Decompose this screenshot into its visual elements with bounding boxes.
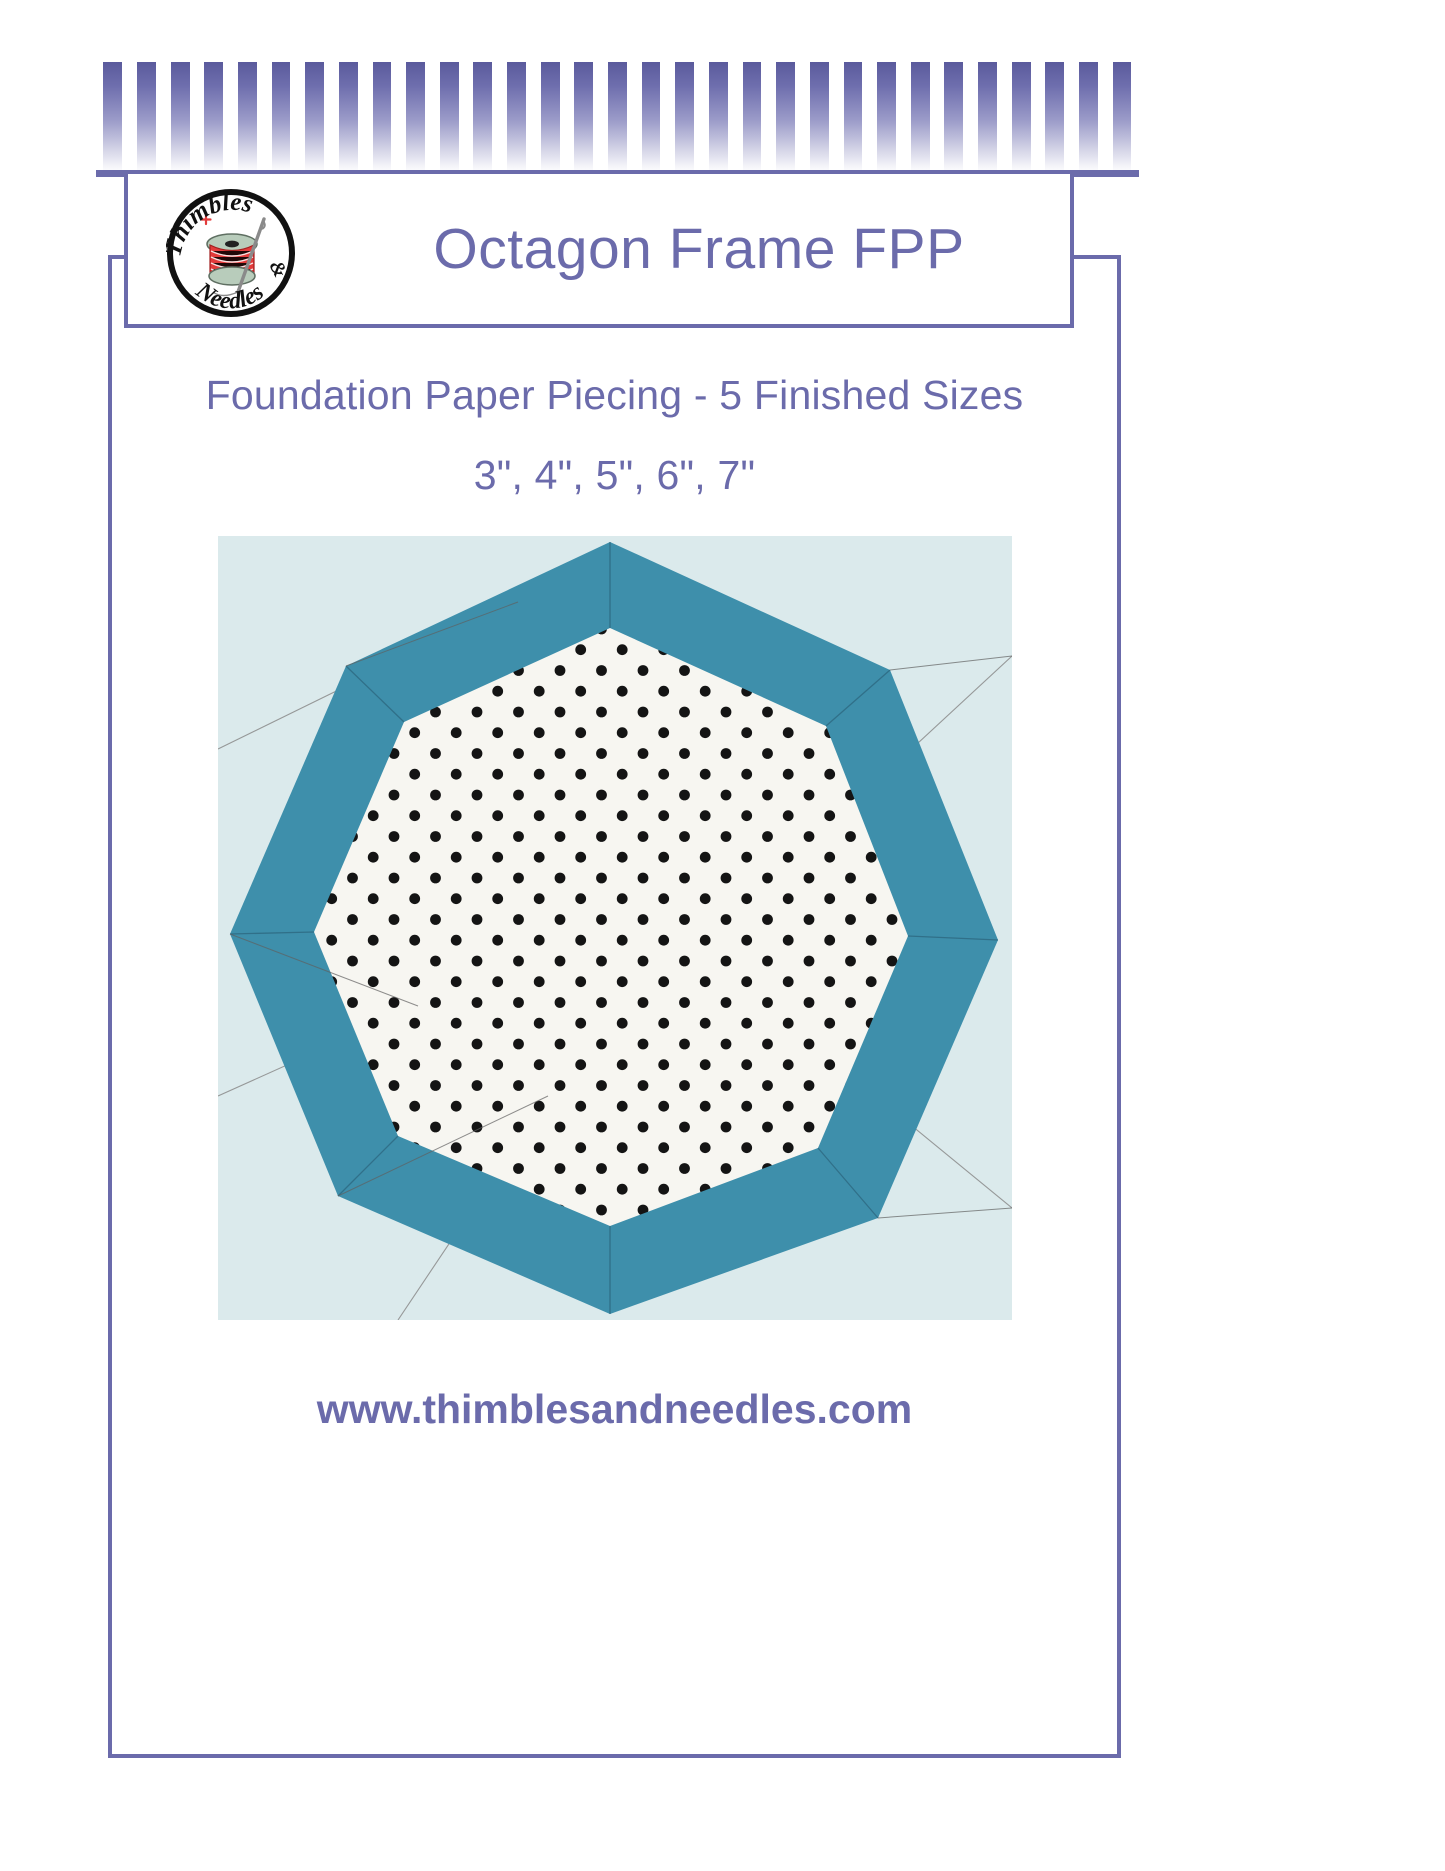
- stripe-bar: [978, 62, 997, 174]
- stripe-cell: [533, 62, 567, 174]
- stripe-cell: [331, 62, 365, 174]
- stripe-bar: [373, 62, 392, 174]
- website-url[interactable]: www.thimblesandneedles.com: [108, 1386, 1121, 1433]
- stripe-bar: [944, 62, 963, 174]
- stripe-cell: [264, 62, 298, 174]
- stripe-bar: [574, 62, 593, 174]
- stripe-cell: [432, 62, 466, 174]
- stripe-cell: [769, 62, 803, 174]
- stripe-bar: [1045, 62, 1064, 174]
- stripe-cell: [971, 62, 1005, 174]
- stripe-cell: [937, 62, 971, 174]
- stripe-cell: [634, 62, 668, 174]
- stripe-cell: [702, 62, 736, 174]
- stripe-bar: [911, 62, 930, 174]
- stripe-bar: [473, 62, 492, 174]
- stripe-bar: [305, 62, 324, 174]
- stripe-bar: [406, 62, 425, 174]
- header-stripe-band: [96, 62, 1139, 174]
- stripe-bar: [339, 62, 358, 174]
- stripe-cell: [96, 62, 130, 174]
- stripe-bar: [137, 62, 156, 174]
- stripe-bar: [608, 62, 627, 174]
- thimbles-and-needles-logo-icon: Thimbles Needles &: [166, 188, 296, 318]
- stripe-cell: [130, 62, 164, 174]
- stripe-cell: [298, 62, 332, 174]
- stripe-cell: [365, 62, 399, 174]
- stripe-cell: [668, 62, 702, 174]
- stripe-bar: [810, 62, 829, 174]
- octagon-block-illustration: [218, 536, 1012, 1320]
- stripe-bar: [776, 62, 795, 174]
- stripe-cell: [231, 62, 265, 174]
- octagon-frame-diagram: [218, 536, 1012, 1320]
- stripe-cell: [836, 62, 870, 174]
- stripe-cell: [399, 62, 433, 174]
- stripe-cell: [735, 62, 769, 174]
- subtitle-line-2: 3", 4", 5", 6", 7": [108, 452, 1121, 499]
- stripe-cell: [1004, 62, 1038, 174]
- stripe-bar: [642, 62, 661, 174]
- stripe-cell: [466, 62, 500, 174]
- stripe-cell: [500, 62, 534, 174]
- stripe-bar: [103, 62, 122, 174]
- stripe-cell: [197, 62, 231, 174]
- stripe-bar: [238, 62, 257, 174]
- stripe-cell: [802, 62, 836, 174]
- stripe-bar: [1113, 62, 1132, 174]
- stripe-bar: [743, 62, 762, 174]
- stripe-cell: [903, 62, 937, 174]
- subtitle-line-1: Foundation Paper Piecing - 5 Finished Si…: [108, 372, 1121, 419]
- stripe-cell: [163, 62, 197, 174]
- stripe-bar: [1079, 62, 1098, 174]
- stripe-cell: [1038, 62, 1072, 174]
- stripe-cell: [567, 62, 601, 174]
- stripe-bar: [541, 62, 560, 174]
- stripe-bar: [675, 62, 694, 174]
- page-title: Octagon Frame FPP: [348, 174, 1050, 324]
- stripe-cell: [1105, 62, 1139, 174]
- stripe-bar: [204, 62, 223, 174]
- stripe-cell: [1072, 62, 1106, 174]
- stripe-bar: [1012, 62, 1031, 174]
- brand-logo: Thimbles Needles &: [166, 188, 296, 318]
- stripe-cell: [870, 62, 904, 174]
- stripe-cell: [601, 62, 635, 174]
- stripe-bar: [709, 62, 728, 174]
- stripe-bar: [844, 62, 863, 174]
- stripe-bar: [507, 62, 526, 174]
- stripe-bar: [440, 62, 459, 174]
- stripe-bar: [272, 62, 291, 174]
- stripe-bar: [171, 62, 190, 174]
- stripe-bar: [877, 62, 896, 174]
- title-banner: Thimbles Needles & Octagon Frame FPP: [124, 170, 1074, 328]
